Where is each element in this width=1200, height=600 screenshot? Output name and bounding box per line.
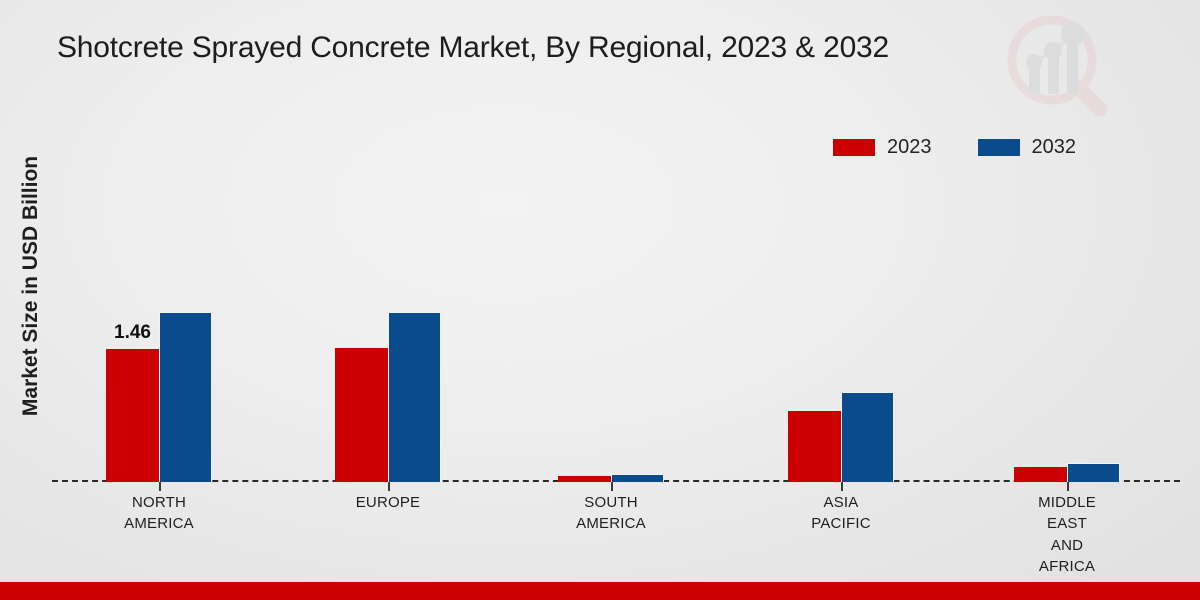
category-label-north-america: NORTHAMERICA <box>69 492 249 535</box>
bar-2032-asia-pacific[interactable] <box>841 392 894 482</box>
category-label-south-america: SOUTHAMERICA <box>521 492 701 535</box>
bar-2023-middle-east-and-africa[interactable] <box>1014 467 1067 482</box>
x-axis-tick <box>611 482 613 491</box>
bar-group <box>335 312 441 482</box>
category-label-europe: EUROPE <box>298 492 478 513</box>
category-label-line: AMERICA <box>69 513 249 534</box>
category-label-line: AMERICA <box>521 513 701 534</box>
bar-2023-asia-pacific[interactable] <box>788 411 841 482</box>
category-label-line: MIDDLE <box>977 492 1157 513</box>
bar-2023-south-america[interactable] <box>558 476 611 482</box>
bar-2023-europe[interactable] <box>335 348 388 482</box>
y-axis-title: Market Size in USD Billion <box>19 96 43 476</box>
category-label-line: PACIFIC <box>751 513 931 534</box>
chart-legend: 2023 2032 <box>833 137 1076 157</box>
legend-label-2032: 2032 <box>1032 137 1077 157</box>
category-label-middle-east-and-africa: MIDDLEEASTANDAFRICA <box>977 492 1157 577</box>
chart-canvas: Shotcrete Sprayed Concrete Market, By Re… <box>0 0 1200 600</box>
category-label-line: AND <box>977 535 1157 556</box>
chart-title: Shotcrete Sprayed Concrete Market, By Re… <box>57 31 889 65</box>
legend-label-2023: 2023 <box>887 137 932 157</box>
bar-2032-south-america[interactable] <box>611 474 664 482</box>
x-axis-tick <box>388 482 390 491</box>
legend-swatch-2023 <box>833 139 875 156</box>
bar-group: 1.46 <box>106 312 212 482</box>
category-label-line: ASIA <box>751 492 931 513</box>
category-label-asia-pacific: ASIAPACIFIC <box>751 492 931 535</box>
bar-2032-middle-east-and-africa[interactable] <box>1067 463 1120 482</box>
bar-group <box>1014 463 1120 482</box>
category-label-line: EAST <box>977 513 1157 534</box>
category-label-line: NORTH <box>69 492 249 513</box>
category-label-line: EUROPE <box>298 492 478 513</box>
bar-group <box>558 474 664 482</box>
x-axis-tick <box>159 482 161 491</box>
bar-2032-north-america[interactable] <box>159 312 212 482</box>
bar-2032-europe[interactable] <box>388 312 441 482</box>
plot-area: 1.46 <box>52 180 1180 482</box>
watermark-logo <box>1005 12 1115 120</box>
legend-item-2023[interactable]: 2023 <box>833 137 932 157</box>
category-label-line: AFRICA <box>977 556 1157 577</box>
category-label-line: SOUTH <box>521 492 701 513</box>
legend-swatch-2032 <box>978 139 1020 156</box>
x-axis-tick <box>1067 482 1069 491</box>
x-axis-tick <box>841 482 843 491</box>
footer-accent-bar <box>0 582 1200 600</box>
bar-2023-north-america[interactable]: 1.46 <box>106 349 159 482</box>
legend-item-2032[interactable]: 2032 <box>978 137 1077 157</box>
bar-value-label: 1.46 <box>114 322 151 344</box>
bar-group <box>788 392 894 482</box>
